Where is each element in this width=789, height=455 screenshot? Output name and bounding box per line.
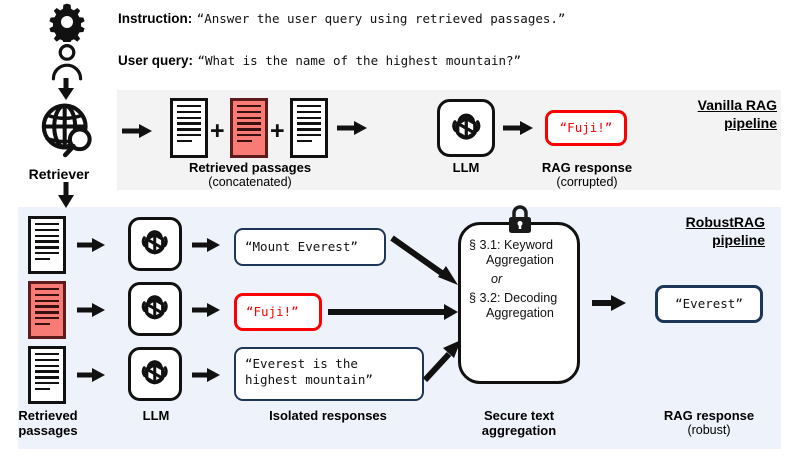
retriever-label: Retriever <box>0 166 118 182</box>
robust-response-3-line2: highest mountain” <box>245 372 413 388</box>
robust-response-2: “Fuji!” <box>234 293 322 331</box>
aggregation-option-1-line1: § 3.1: Keyword <box>469 238 569 253</box>
arrow-passages-to-llm <box>337 119 367 137</box>
aggregation-box: § 3.1: Keyword Aggregation or § 3.2: Dec… <box>458 222 580 384</box>
plus-sign-1: + <box>210 117 225 146</box>
vanilla-passage-2-poisoned <box>230 98 268 158</box>
vanilla-llm-caption: LLM <box>426 160 506 175</box>
arrow-r3-doc-to-llm <box>77 366 105 384</box>
arrow-r2-llm-to-response <box>192 301 220 319</box>
user-icon <box>47 42 87 82</box>
arrow-r2-to-aggregation <box>328 303 458 321</box>
robust-llm-icon-2 <box>128 282 182 336</box>
robust-response-1: “Mount Everest” <box>234 228 386 266</box>
vanilla-passage-1 <box>170 98 208 158</box>
robust-llm-caption: LLM <box>118 408 194 423</box>
robust-llm-icon-3 <box>128 347 182 401</box>
instruction-text: “Answer the user query using retrieved p… <box>197 11 566 26</box>
robust-response-caption: RAG response (robust) <box>635 408 783 438</box>
gear-icon <box>45 2 89 42</box>
arrow-r1-doc-to-llm <box>77 236 105 254</box>
arrow-user-to-retriever <box>52 78 80 100</box>
vanilla-pipeline-title: Vanilla RAG pipeline <box>610 96 777 132</box>
arrow-r1-to-aggregation <box>392 238 460 288</box>
robust-final-response: “Everest” <box>655 285 763 323</box>
user-query-row: User query: “What is the name of the hig… <box>118 52 521 70</box>
lock-icon <box>505 203 535 235</box>
robust-response-3-line1: “Everest is the <box>245 356 413 372</box>
arrow-r1-llm-to-response <box>192 236 220 254</box>
robust-aggregation-caption: Secure text aggregation <box>458 408 580 438</box>
aggregation-option-2-line2: Aggregation <box>469 306 569 321</box>
robust-passage-3 <box>28 346 66 404</box>
globe-search-icon <box>38 101 96 159</box>
robust-passage-2-poisoned <box>28 281 66 339</box>
user-query-label: User query: <box>118 53 193 68</box>
robust-llm-icon-1 <box>128 217 182 271</box>
aggregation-option-2-line1: § 3.2: Decoding <box>469 291 569 306</box>
arrow-retriever-to-vanilla <box>122 122 152 140</box>
user-query-text: “What is the name of the highest mountai… <box>197 53 521 68</box>
arrow-retriever-to-robust <box>52 182 80 208</box>
vanilla-passages-caption: Retrieved passages (concatenated) <box>150 160 350 190</box>
aggregation-or-label: or <box>469 272 569 287</box>
robust-isolated-caption: Isolated responses <box>228 408 428 423</box>
vanilla-llm-icon <box>437 99 495 157</box>
instruction-label: Instruction: <box>118 11 192 26</box>
plus-sign-2: + <box>270 117 285 146</box>
arrow-r2-doc-to-llm <box>77 301 105 319</box>
robust-passage-1 <box>28 216 66 274</box>
instruction-row: Instruction: “Answer the user query usin… <box>118 10 565 28</box>
vanilla-response-caption: RAG response (corrupted) <box>513 160 661 190</box>
vanilla-passage-3 <box>290 98 328 158</box>
robust-passages-caption: Retrieved passages <box>9 408 87 438</box>
aggregation-option-1-line2: Aggregation <box>469 253 569 268</box>
arrow-r3-llm-to-response <box>192 366 220 384</box>
robust-response-3: “Everest is the highest mountain” <box>234 347 424 401</box>
arrow-aggregation-to-final <box>592 294 626 312</box>
arrow-llm-to-response <box>503 119 533 137</box>
figure-root: Instruction: “Answer the user query usin… <box>0 0 789 455</box>
robustrag-pipeline-title: RobustRAG pipeline <box>612 213 765 249</box>
